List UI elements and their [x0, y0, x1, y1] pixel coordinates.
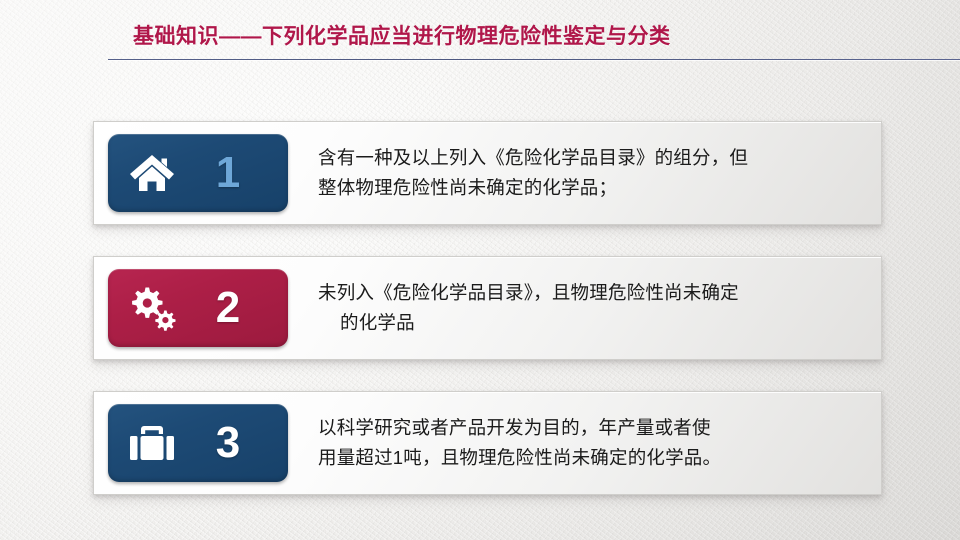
home-icon: [122, 144, 182, 202]
card-3-line-2: 用量超过1吨，且物理危险性尚未确定的化学品。: [318, 443, 870, 473]
card-3-badge: 3: [108, 404, 288, 482]
content-card-2[interactable]: 2 未列入《危险化学品目录》，且物理危险性尚未确定 的化学品: [93, 256, 882, 360]
presentation-slide: 基础知识——下列化学品应当进行物理危险性鉴定与分类 1 含有一种及以上列入《危险…: [0, 0, 960, 540]
card-2-badge: 2: [108, 269, 288, 347]
card-1-line-1: 含有一种及以上列入《危险化学品目录》的组分，但: [318, 143, 870, 173]
content-card-1[interactable]: 1 含有一种及以上列入《危险化学品目录》的组分，但 整体物理危险性尚未确定的化学…: [93, 121, 882, 225]
card-2-text: 未列入《危险化学品目录》，且物理危险性尚未确定 的化学品: [318, 257, 870, 359]
card-3-number: 3: [182, 421, 288, 465]
card-2-number: 2: [182, 286, 288, 330]
card-1-text: 含有一种及以上列入《危险化学品目录》的组分，但 整体物理危险性尚未确定的化学品；: [318, 122, 870, 224]
card-3-line-1: 以科学研究或者产品开发为目的，年产量或者使: [318, 413, 870, 443]
content-card-3[interactable]: 3 以科学研究或者产品开发为目的，年产量或者使 用量超过1吨，且物理危险性尚未确…: [93, 391, 882, 495]
gears-icon: [122, 279, 182, 337]
slide-header: 基础知识——下列化学品应当进行物理危险性鉴定与分类: [0, 22, 960, 70]
card-1-badge: 1: [108, 134, 288, 212]
header-divider: [108, 59, 960, 60]
card-3-text: 以科学研究或者产品开发为目的，年产量或者使 用量超过1吨，且物理危险性尚未确定的…: [318, 392, 870, 494]
briefcase-icon: [122, 414, 182, 472]
card-2-line-1: 未列入《危险化学品目录》，且物理危险性尚未确定: [318, 278, 870, 308]
page-title: 基础知识——下列化学品应当进行物理危险性鉴定与分类: [133, 22, 671, 52]
card-2-line-2: 的化学品: [318, 308, 870, 338]
card-1-number: 1: [182, 151, 288, 195]
card-1-line-2: 整体物理危险性尚未确定的化学品；: [318, 173, 870, 203]
content-card-list: 1 含有一种及以上列入《危险化学品目录》的组分，但 整体物理危险性尚未确定的化学…: [0, 0, 960, 540]
